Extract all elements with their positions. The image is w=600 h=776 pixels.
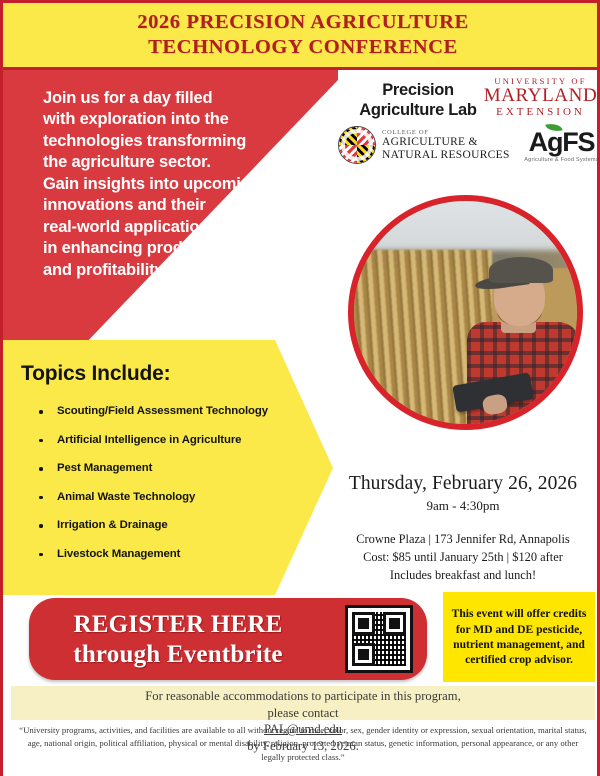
intro-line: and profitability. — [43, 260, 303, 281]
canr-text: COLLEGE OF AGRICULTURE & NATURAL RESOURC… — [382, 129, 510, 162]
umd-extension-logo: UNIVERSITY OF MARYLAND EXTENSION — [478, 76, 600, 118]
intro-line: real-world applications — [43, 217, 303, 238]
intro-line: in enhancing productivity — [43, 238, 303, 259]
event-venue-info: Crowne Plaza | 173 Jennifer Rd, Annapoli… — [323, 531, 600, 584]
farmer-photo — [348, 195, 583, 430]
agfs-tagline: Agriculture & Food Systems — [520, 157, 600, 163]
intro-line: with exploration into the — [43, 109, 303, 130]
event-cost: Cost: $85 until January 25th | $120 afte… — [323, 549, 600, 567]
list-item: Scouting/Field Assessment Technology — [39, 405, 309, 417]
agfs-mark-text: AgFS — [529, 127, 595, 157]
topics-list: Scouting/Field Assessment Technology Art… — [39, 405, 309, 576]
list-item: Animal Waste Technology — [39, 491, 309, 503]
umd-line-3: EXTENSION — [478, 106, 600, 118]
maryland-seal-icon — [338, 126, 376, 164]
logo-group: Precision Agriculture Lab UNIVERSITY OF … — [338, 74, 600, 194]
register-line-1: REGISTER HERE — [43, 610, 313, 640]
event-time: 9am - 4:30pm — [323, 498, 600, 514]
credits-text: This event will offer credits for MD and… — [443, 606, 595, 667]
credits-notice-box: This event will offer credits for MD and… — [443, 592, 595, 682]
pal-line-2: Agriculture Lab — [348, 100, 488, 120]
list-item: Livestock Management — [39, 548, 309, 560]
event-details: Thursday, February 26, 2026 9am - 4:30pm… — [323, 472, 600, 584]
agfs-wordmark: AgFS — [529, 129, 595, 156]
intro-text: Join us for a day filled with exploratio… — [43, 88, 303, 281]
page-title: 2026 PRECISION AGRICULTURE TECHNOLOGY CO… — [137, 10, 469, 61]
header-banner: 2026 PRECISION AGRICULTURE TECHNOLOGY CO… — [3, 0, 600, 70]
agfs-logo: AgFS Agriculture & Food Systems — [520, 129, 600, 163]
intro-line: Gain insights into upcoming — [43, 174, 303, 195]
pal-line-1: Precision — [348, 80, 488, 100]
topics-heading: Topics Include: — [21, 362, 170, 386]
intro-line: Join us for a day filled — [43, 88, 303, 109]
event-includes: Includes breakfast and lunch! — [323, 567, 600, 585]
intro-line: the agriculture sector. — [43, 152, 303, 173]
accom-prefix: please contact — [3, 705, 600, 722]
conference-flyer: 2026 PRECISION AGRICULTURE TECHNOLOGY CO… — [0, 0, 600, 776]
college-agriculture-natural-resources-logo: COLLEGE OF AGRICULTURE & NATURAL RESOURC… — [338, 124, 513, 166]
intro-line: innovations and their — [43, 195, 303, 216]
list-item: Pest Management — [39, 462, 309, 474]
precision-agriculture-lab-logo: Precision Agriculture Lab — [348, 80, 488, 120]
register-line-2: through Eventbrite — [43, 640, 313, 670]
title-line-1: 2026 PRECISION AGRICULTURE — [137, 11, 469, 33]
umd-line-2: MARYLAND — [478, 86, 600, 106]
register-label: REGISTER HERE through Eventbrite — [43, 610, 313, 669]
nondiscrimination-disclaimer: “University programs, activities, and fa… — [17, 724, 589, 764]
accom-line-1: For reasonable accommodations to partici… — [3, 688, 600, 705]
list-item: Irrigation & Drainage — [39, 519, 309, 531]
list-item: Artificial Intelligence in Agriculture — [39, 434, 309, 446]
intro-line: technologies transforming — [43, 131, 303, 152]
title-line-2: TECHNOLOGY CONFERENCE — [137, 35, 469, 60]
canr-line-1: COLLEGE OF — [382, 129, 510, 136]
venue-address: Crowne Plaza | 173 Jennifer Rd, Annapoli… — [323, 531, 600, 549]
register-button[interactable]: REGISTER HERE through Eventbrite — [29, 598, 427, 680]
event-date: Thursday, February 26, 2026 — [323, 472, 600, 495]
qr-code-icon[interactable] — [345, 605, 413, 673]
canr-line-3: NATURAL RESOURCES — [382, 149, 510, 162]
canr-line-2: AGRICULTURE & — [382, 136, 510, 149]
